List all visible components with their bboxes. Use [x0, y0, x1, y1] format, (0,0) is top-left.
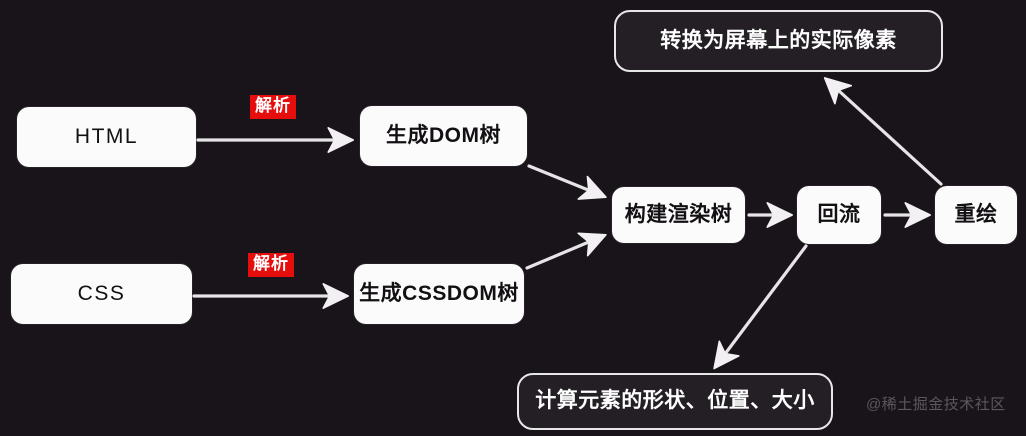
node-convert-to-screen-pixels[interactable]: 转换为屏幕上的实际像素 [614, 10, 943, 72]
node-html[interactable]: HTML [17, 107, 196, 167]
node-generate-dom-tree[interactable]: 生成DOM树 [360, 106, 527, 166]
node-compute-element-geometry[interactable]: 计算元素的形状、位置、大小 [517, 373, 833, 430]
edge-label-parse-html: 解析 [250, 95, 296, 119]
node-repaint[interactable]: 重绘 [935, 186, 1017, 244]
flowchart-canvas: HTML CSS 生成DOM树 生成CSSDOM树 构建渲染树 回流 重绘 转换… [0, 0, 1026, 436]
node-build-render-tree[interactable]: 构建渲染树 [612, 187, 745, 243]
edge-cssdom-to-rendertree [527, 236, 603, 268]
watermark: @稀土掘金技术社区 [866, 393, 1006, 414]
node-css[interactable]: CSS [11, 264, 192, 324]
edge-dom-to-rendertree [529, 166, 603, 196]
edge-label-parse-css: 解析 [248, 253, 294, 277]
edge-reflow-to-layoutcalc [716, 246, 806, 366]
node-generate-cssdom-tree[interactable]: 生成CSSDOM树 [354, 264, 524, 324]
edge-repaint-to-pixels [827, 80, 941, 184]
node-reflow[interactable]: 回流 [797, 186, 881, 244]
